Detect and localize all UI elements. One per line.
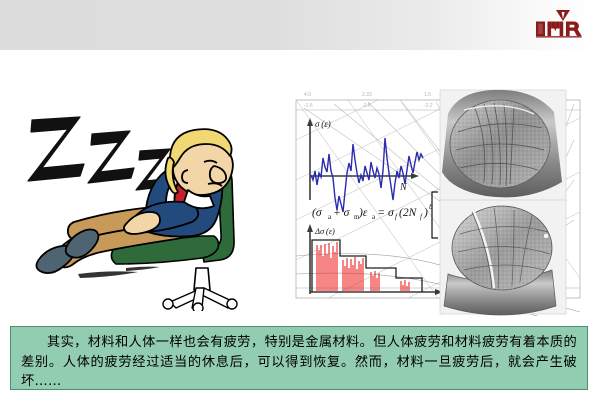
svg-text:1.5: 1.5 (424, 92, 431, 98)
signal-x-axis-label: N (399, 182, 408, 193)
rainflow-histogram-plot: Δσ (ε) (307, 224, 443, 295)
fracture-photo-bottom (440, 200, 566, 315)
imr-logo-icon (532, 9, 588, 39)
rainflow-cycle-marks (317, 242, 409, 291)
fracture-photo-top (440, 90, 566, 202)
stress-signal-line (311, 138, 423, 212)
svg-text:-2.2: -2.2 (424, 103, 433, 109)
svg-text:): ) (423, 207, 428, 219)
svg-text:(σ: (σ (312, 207, 323, 219)
svg-text:4.0: 4.0 (304, 92, 311, 98)
callout-textbox: 其实，材料和人体一样也会有疲劳，特别是金属材料。但人体疲劳和材料疲劳有着本质的差… (10, 326, 588, 390)
svg-text:-1.6: -1.6 (304, 103, 313, 109)
svg-text:-2.6: -2.6 (362, 103, 371, 109)
svg-text:σ: σ (388, 207, 395, 219)
svg-text:f: f (395, 213, 398, 221)
svg-text:a: a (372, 213, 376, 221)
fatigue-analysis-collage: 4.0 2.33 1.5 1.0 0.67 -1.6 -2.6 -2.2 -0.… (288, 88, 588, 316)
floor-shadow (78, 267, 160, 278)
svg-text:f: f (420, 213, 423, 221)
slide-canvas: 4.0 2.33 1.5 1.0 0.67 -1.6 -2.6 -2.2 -0.… (0, 0, 600, 400)
svg-text:(2N: (2N (399, 207, 418, 219)
stress-time-signal-plot: σ (ε) N (307, 118, 423, 212)
svg-text:=: = (378, 207, 385, 219)
svg-text:)ε: )ε (358, 207, 368, 219)
svg-text:+ σ: + σ (333, 207, 351, 219)
callout-text: 其实，材料和人体一样也会有疲劳，特别是金属材料。但人体疲劳和材料疲劳有着本质的差… (21, 333, 577, 390)
signal-y-axis-label: σ (ε) (315, 119, 331, 129)
sleeping-man-cartoon (18, 96, 268, 311)
header-band (0, 0, 600, 50)
svg-text:a: a (328, 213, 332, 221)
svg-text:2.33: 2.33 (362, 92, 372, 98)
histogram-y-axis-label: Δσ (ε) (314, 226, 335, 236)
